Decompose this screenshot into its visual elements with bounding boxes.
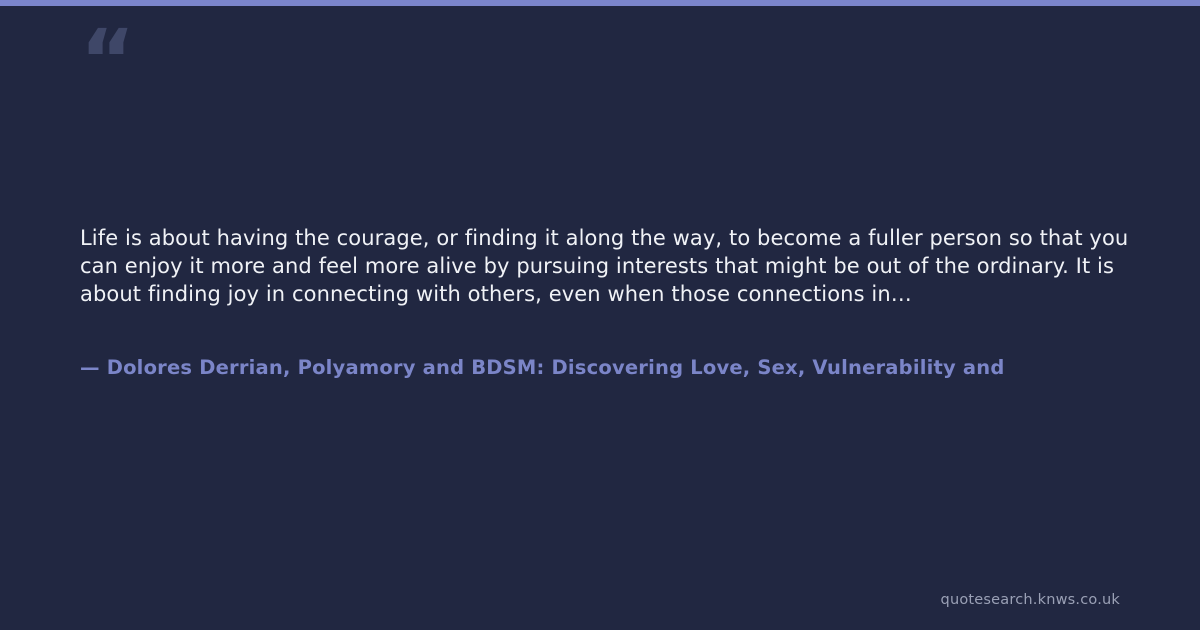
quote-text: Life is about having the courage, or fin… (80, 224, 1140, 308)
quote-card: “ Life is about having the courage, or f… (0, 0, 1200, 630)
attribution-dash: — (80, 356, 100, 379)
quote-mark-icon: “ (80, 18, 133, 102)
source-url: quotesearch.knws.co.uk (941, 592, 1120, 608)
top-accent-bar (0, 0, 1200, 6)
attribution-text: Dolores Derrian, Polyamory and BDSM: Dis… (107, 356, 1005, 379)
quote-attribution: — Dolores Derrian, Polyamory and BDSM: D… (80, 354, 1200, 382)
